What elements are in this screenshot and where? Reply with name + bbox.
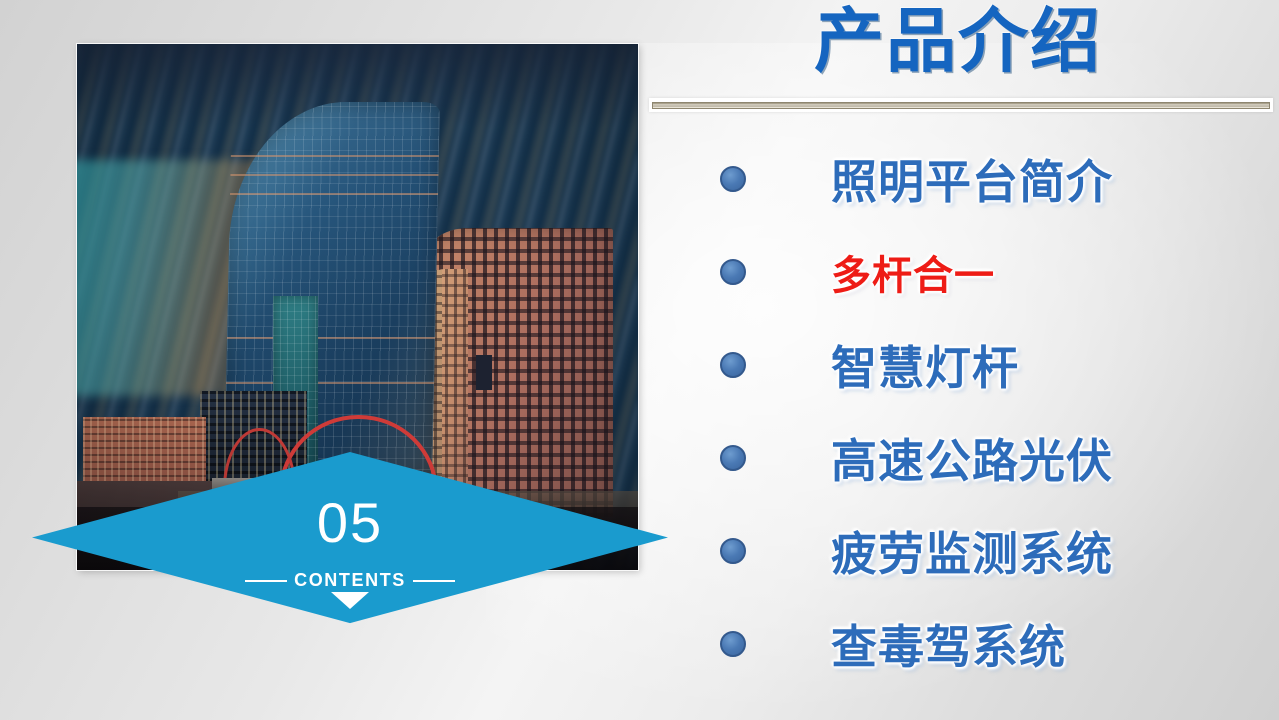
- list-item[interactable]: 智慧灯杆: [645, 318, 1279, 411]
- photo-glass-tower-band: [231, 155, 439, 157]
- bullet-list: 照明平台简介 多杆合一 智慧灯杆 高速公路光伏 疲劳监测系统 查毒驾系统: [645, 132, 1279, 690]
- list-item[interactable]: 照明平台简介: [645, 132, 1279, 225]
- photo-foreground-shadow: [77, 507, 638, 570]
- title-divider: [649, 98, 1273, 112]
- right-content-pane: 产品介绍 照明平台简介 多杆合一 智慧灯杆 高速公路光伏: [645, 0, 1279, 720]
- list-item-label: 查毒驾系统: [831, 611, 1066, 677]
- photo-glass-tower-band: [227, 337, 435, 339]
- photo-building-copper-slot: [476, 355, 493, 390]
- list-item[interactable]: 疲劳监测系统: [645, 504, 1279, 597]
- presentation-slide: 05 CONTENTS 产品介绍 照明平台简介 多杆合一 智慧灯杆: [0, 0, 1279, 720]
- list-item[interactable]: 高速公路光伏: [645, 411, 1279, 504]
- photo-glass-tower-band: [231, 174, 439, 176]
- bullet-dot-icon: [720, 631, 746, 657]
- bullet-dot-icon: [720, 538, 746, 564]
- list-item-label: 照明平台简介: [831, 146, 1113, 212]
- photo-glass-tower-band: [227, 382, 435, 384]
- bullet-dot-icon: [720, 166, 746, 192]
- bullet-dot-icon: [720, 445, 746, 471]
- photo-glass-tower-band: [230, 193, 438, 195]
- list-item-label: 高速公路光伏: [831, 425, 1113, 491]
- bullet-dot-icon: [720, 259, 746, 285]
- list-item[interactable]: 查毒驾系统: [645, 597, 1279, 690]
- list-item[interactable]: 多杆合一: [645, 225, 1279, 318]
- list-item-label: 疲劳监测系统: [831, 518, 1113, 584]
- city-skyline-photo: [77, 44, 638, 570]
- title-divider-bar: [652, 102, 1270, 109]
- bullet-dot-icon: [720, 352, 746, 378]
- list-item-label: 智慧灯杆: [831, 332, 1019, 398]
- list-item-label: 多杆合一: [831, 243, 995, 301]
- photo-building-copper: [428, 228, 613, 517]
- page-title: 产品介绍: [645, 2, 1271, 80]
